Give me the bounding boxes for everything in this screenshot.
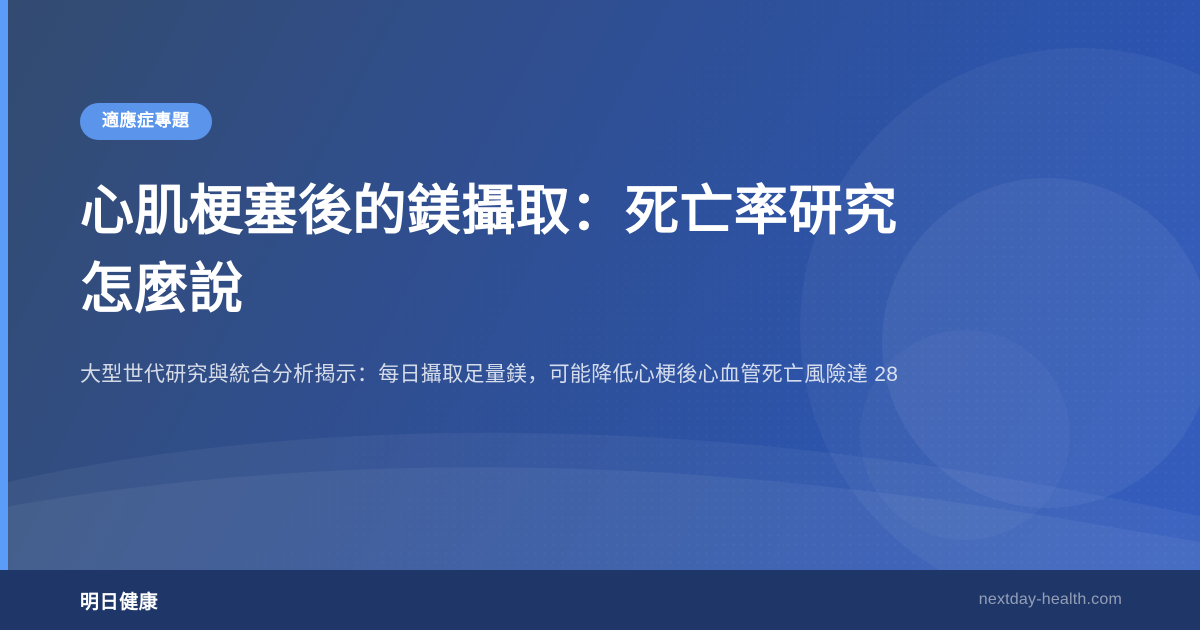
wave-decoration-back	[0, 420, 1200, 570]
social-share-card: 適應症專題 心肌梗塞後的鎂攝取：死亡率研究怎麼說 大型世代研究與統合分析揭示：每…	[0, 0, 1200, 630]
site-name: 明日健康	[80, 587, 158, 614]
category-badge[interactable]: 適應症專題	[80, 103, 212, 140]
wave-decoration-front	[0, 450, 1200, 570]
accent-stripe	[0, 0, 8, 570]
card-footer: 明日健康 nextday-health.com	[0, 570, 1200, 630]
page-subtitle: 大型世代研究與統合分析揭示：每日攝取足量鎂，可能降低心梗後心血管死亡風險達 28	[80, 358, 1080, 392]
site-url: nextday-health.com	[979, 591, 1122, 609]
card-content: 適應症專題 心肌梗塞後的鎂攝取：死亡率研究怎麼說 大型世代研究與統合分析揭示：每…	[80, 0, 1080, 392]
page-title: 心肌梗塞後的鎂攝取：死亡率研究怎麼說	[80, 172, 920, 328]
